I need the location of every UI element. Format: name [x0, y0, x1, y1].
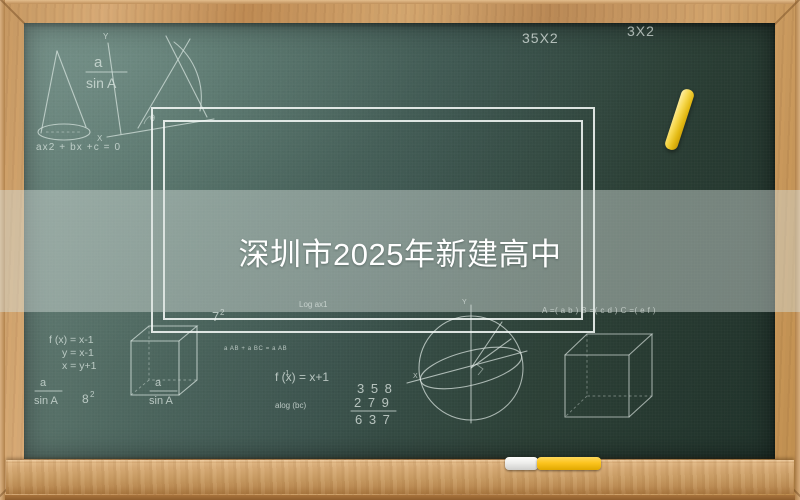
cone-drawing [38, 51, 90, 140]
chalk-text-division-mid: 2 7 9 [354, 395, 390, 410]
chalk-text-inverse-exponent: -1 [283, 370, 289, 377]
chalk-text-circle-axis-x: X [413, 373, 418, 380]
frame-bottom-edge [0, 495, 800, 500]
long-division: 3 5 8 2 7 9 6 3 7 [351, 381, 396, 427]
chalk-text-quadratic: ax2 + bx +c = 0 [36, 142, 121, 153]
chalk-text-a-numerator: a [94, 54, 103, 71]
chalk-text-small-equation: a AB + a BC = a AB [224, 346, 287, 352]
chalk-text-sine-b-num: a [155, 377, 162, 389]
chalk-text-division-top: 3 5 8 [357, 381, 393, 396]
function-equations: f (x) = x-1 y = x-1 x = y+1 [49, 334, 97, 372]
chalk-text-fx-2: y = x-1 [62, 347, 94, 359]
chalk-ledge [6, 460, 794, 494]
ledge-wood-grain [6, 460, 794, 494]
chalk-text-axis-x: X [97, 134, 103, 143]
white-chalk-on-ledge [505, 457, 538, 470]
chalk-text-sine-b-den: sin A [149, 395, 174, 407]
chalk-text-inverse-function: f (x) = x+1 [275, 370, 329, 384]
chalk-text-eight: 8 [82, 392, 89, 406]
yellow-chalk-on-ledge [537, 457, 601, 470]
chalk-text-sine-a-den: sin A [34, 395, 59, 407]
frame-top-edge [0, 0, 800, 4]
chalk-text-fx-3: x = y+1 [62, 360, 97, 372]
chalk-text-log-identity: alog (bc) [275, 401, 306, 410]
chalkboard-scene: a sin A ax2 + bx +c = 0 Y X θ [0, 0, 800, 500]
chalk-text-sin-a-denominator: sin A [86, 75, 117, 91]
chalk-text-sine-a-num: a [40, 377, 47, 389]
chalk-text-fx-1: f (x) = x-1 [49, 334, 94, 346]
chalk-text-term-35x2: 35X2 [522, 30, 559, 46]
cube-left-drawing [131, 326, 197, 395]
chalk-text-division-bottom: 6 3 7 [355, 412, 391, 427]
page-title: 深圳市2025年新建高中 [0, 190, 800, 312]
chalk-text-term-3x2: 3X2 [627, 23, 655, 39]
chalk-text-eight-exponent: 2 [90, 390, 95, 399]
cube-right-drawing [565, 334, 652, 417]
chalk-text-axis-y: Y [103, 32, 109, 41]
